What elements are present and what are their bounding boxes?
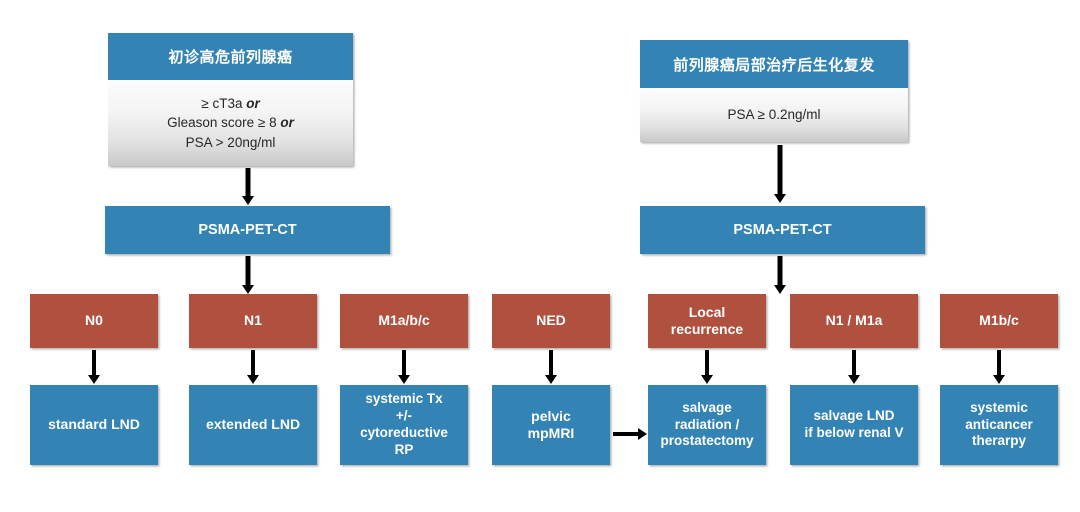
stage-label-ned: NED [492,312,610,330]
stage-box-ned: NED [492,294,610,348]
treatment-box-systemic-tx: systemic Tx +/- cytoreductive RP [340,385,468,465]
stage-box-local-recurrence: Local recurrence [648,294,766,348]
stage-label-m1abc: M1a/b/c [340,312,468,330]
left-psma-pet-ct-box: PSMA-PET-CT [105,206,390,254]
treatment-label-salvage-lnd: salvage LND if below renal V [790,408,918,442]
criteria-line-1-or: or [246,96,260,111]
criteria-line-3: PSA > 20ng/ml [108,133,353,153]
right-psma-pet-ct-box: PSMA-PET-CT [640,206,925,254]
treatment-label-extended-lnd: extended LND [189,416,317,434]
left-header-title: 初诊高危前列腺癌 [108,33,353,80]
right-header-title: 前列腺癌局部治疗后生化复发 [640,40,908,88]
right-header-box: 前列腺癌局部治疗后生化复发 PSA ≥ 0.2ng/ml [640,40,908,142]
criteria-line-2-text: Gleason score ≥ 8 [167,115,280,130]
treatment-label-salvage-radiation: salvage radiation / prostatectomy [648,400,766,451]
treatment-box-pelvic-mpmri: pelvic mpMRI [492,385,610,465]
stage-label-n1: N1 [189,312,317,330]
right-psma-pet-ct-label: PSMA-PET-CT [640,221,925,239]
criteria-line-2-or: or [280,115,294,130]
stage-box-m1bc: M1b/c [940,294,1058,348]
treatment-box-extended-lnd: extended LND [189,385,317,465]
stage-box-n0: N0 [30,294,158,348]
treatment-box-standard-lnd: standard LND [30,385,158,465]
stage-label-n0: N0 [30,312,158,330]
treatment-label-systemic-anticancer: systemic anticancer therarpy [940,400,1058,451]
stage-label-n1-m1a: N1 / M1a [790,312,918,330]
treatment-box-salvage-lnd: salvage LND if below renal V [790,385,918,465]
treatment-label-standard-lnd: standard LND [30,416,158,434]
left-header-criteria: ≥ cT3a or Gleason score ≥ 8 or PSA > 20n… [108,80,353,166]
treatment-box-salvage-radiation: salvage radiation / prostatectomy [648,385,766,465]
left-psma-pet-ct-label: PSMA-PET-CT [105,221,390,239]
criteria-line-1-text: ≥ cT3a [201,96,246,111]
stage-label-local-recurrence: Local recurrence [648,304,766,339]
right-header-criteria: PSA ≥ 0.2ng/ml [640,88,908,142]
stage-label-m1bc: M1b/c [940,312,1058,330]
treatment-box-systemic-anticancer: systemic anticancer therarpy [940,385,1058,465]
right-criteria-line-1: PSA ≥ 0.2ng/ml [640,105,908,125]
treatment-label-systemic-tx: systemic Tx +/- cytoreductive RP [340,391,468,459]
arrow-pelvic-mpmri-to-salvage-radiation [613,428,649,440]
stage-box-n1: N1 [189,294,317,348]
treatment-label-pelvic-mpmri: pelvic mpMRI [492,408,610,443]
stage-box-n1-m1a: N1 / M1a [790,294,918,348]
flowchart-canvas: 初诊高危前列腺癌 ≥ cT3a or Gleason score ≥ 8 or … [0,0,1080,512]
stage-box-m1abc: M1a/b/c [340,294,468,348]
left-header-box: 初诊高危前列腺癌 ≥ cT3a or Gleason score ≥ 8 or … [108,33,353,166]
